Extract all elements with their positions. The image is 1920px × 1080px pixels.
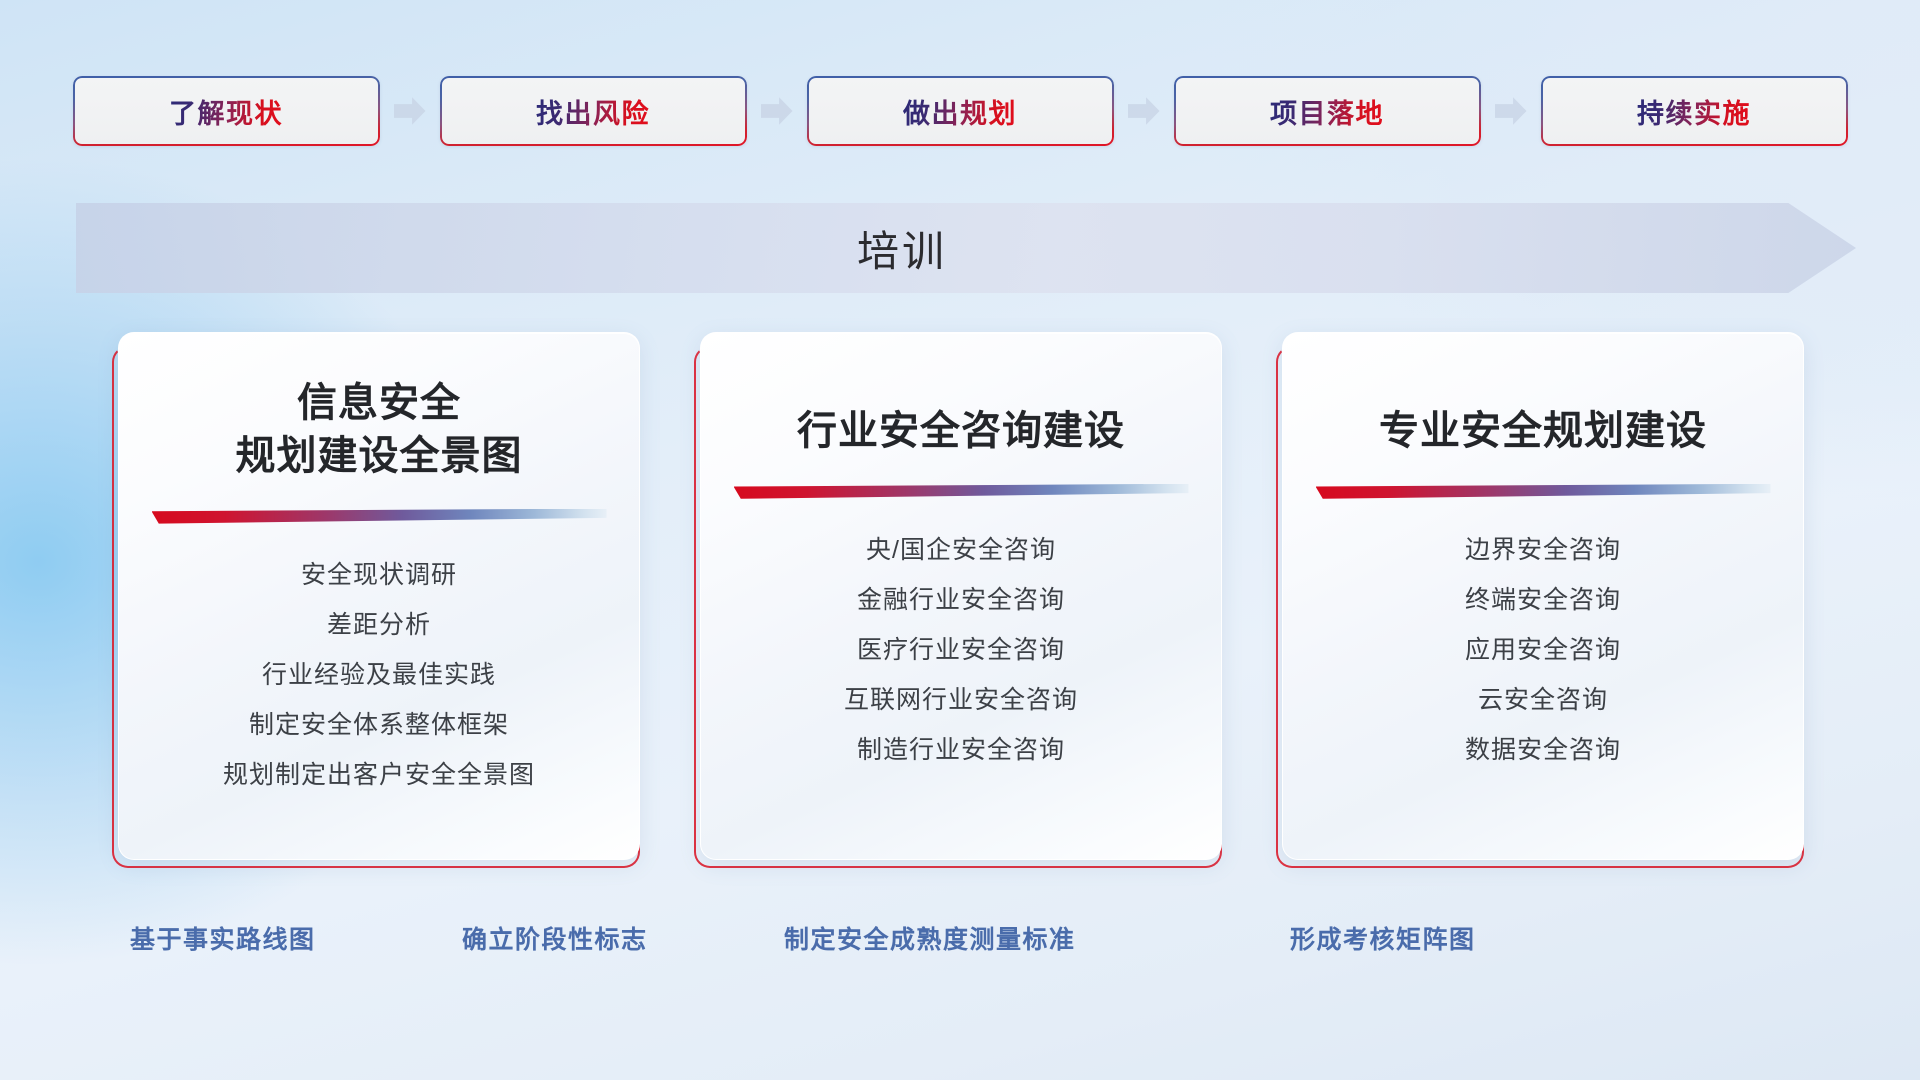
list-item: 规划制定出客户安全全景图 [149,750,609,800]
list-item: 安全现状调研 [149,550,609,600]
list-item: 云安全咨询 [1313,675,1773,725]
card-list: 安全现状调研 差距分析 行业经验及最佳实践 制定安全体系整体框架 规划制定出客户… [149,550,609,800]
step-box-3[interactable]: 项目落地 [1174,76,1481,146]
step-box-0[interactable]: 了解现状 [73,76,380,146]
card-divider-line [152,509,607,524]
list-item: 行业经验及最佳实践 [149,650,609,700]
list-item: 金融行业安全咨询 [731,575,1191,625]
step-box-4[interactable]: 持续实施 [1541,76,1848,146]
caption-2: 制定安全成熟度测量标准 [784,920,1076,956]
card-1[interactable]: 行业安全咨询建设 央/国企安全咨询 金融行业安全咨询 医疗行业安全咨询 互联网行… [700,332,1222,860]
card-wrapper-1: 行业安全咨询建设 央/国企安全咨询 金融行业安全咨询 医疗行业安全咨询 互联网行… [692,332,1222,872]
step-arrow-icon-1 [761,96,793,126]
card-wrapper-2: 专业安全规划建设 边界安全咨询 终端安全咨询 应用安全咨询 云安全咨询 数据安全… [1274,332,1804,872]
step-box-1[interactable]: 找出风险 [440,76,747,146]
card-title: 行业安全咨询建设 [797,405,1125,458]
card-title: 信息安全 规划建设全景图 [236,377,523,483]
card-2[interactable]: 专业安全规划建设 边界安全咨询 终端安全咨询 应用安全咨询 云安全咨询 数据安全… [1282,332,1804,860]
caption-row: 基于事实路线图 确立阶段性标志 制定安全成熟度测量标准 形成考核矩阵图 [0,920,1920,970]
step-arrow-icon-0 [394,96,426,126]
list-item: 互联网行业安全咨询 [731,675,1191,725]
list-item: 差距分析 [149,600,609,650]
caption-3: 形成考核矩阵图 [1290,920,1476,956]
training-banner: 培训 [76,203,1856,293]
caption-1: 确立阶段性标志 [462,920,648,956]
caption-0: 基于事实路线图 [130,920,316,956]
card-divider-line [734,484,1189,499]
list-item: 央/国企安全咨询 [731,525,1191,575]
list-item: 终端安全咨询 [1313,575,1773,625]
card-divider-line [1316,484,1771,499]
step-label: 找出风险 [536,92,650,131]
process-step-row: 了解现状 找出风险 做出规划 项目落地 持续实施 [0,75,1920,147]
card-wrapper-0: 信息安全 规划建设全景图 安全现状调研 差距分析 行业经验及最佳实践 制定安全体… [110,332,640,872]
card-0[interactable]: 信息安全 规划建设全景图 安全现状调研 差距分析 行业经验及最佳实践 制定安全体… [118,332,640,860]
list-item: 医疗行业安全咨询 [731,625,1191,675]
step-label: 做出规划 [903,92,1017,131]
card-row: 信息安全 规划建设全景图 安全现状调研 差距分析 行业经验及最佳实践 制定安全体… [0,332,1920,872]
step-label: 持续实施 [1637,92,1751,131]
step-label: 项目落地 [1270,92,1384,131]
card-list: 边界安全咨询 终端安全咨询 应用安全咨询 云安全咨询 数据安全咨询 [1313,525,1773,775]
slide-root: { "steps": { "items": [ { "label": "了解现状… [0,0,1920,1080]
banner-title: 培训 [76,203,1856,293]
card-list: 央/国企安全咨询 金融行业安全咨询 医疗行业安全咨询 互联网行业安全咨询 制造行… [731,525,1191,775]
step-arrow-icon-3 [1495,96,1527,126]
list-item: 应用安全咨询 [1313,625,1773,675]
step-label: 了解现状 [169,92,283,131]
card-title: 专业安全规划建设 [1379,405,1707,458]
list-item: 数据安全咨询 [1313,725,1773,775]
list-item: 制造行业安全咨询 [731,725,1191,775]
step-arrow-icon-2 [1128,96,1160,126]
list-item: 边界安全咨询 [1313,525,1773,575]
list-item: 制定安全体系整体框架 [149,700,609,750]
step-box-2[interactable]: 做出规划 [807,76,1114,146]
